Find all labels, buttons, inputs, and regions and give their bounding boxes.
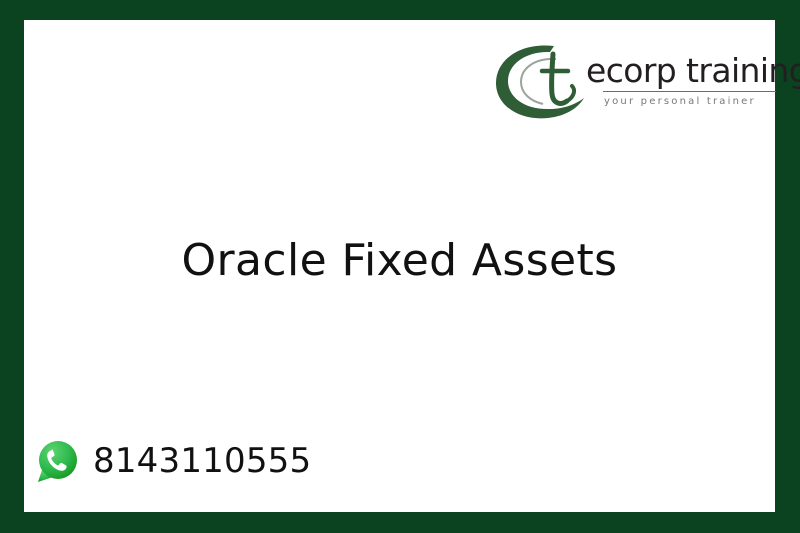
logo-wordmark: ecorp trainings bbox=[586, 52, 776, 90]
logo-tagline: your personal trainer bbox=[604, 95, 776, 108]
logo-divider-rule bbox=[603, 91, 776, 92]
slide-root: ecorp trainings your personal trainer Or… bbox=[0, 0, 800, 533]
whatsapp-icon[interactable] bbox=[33, 437, 81, 485]
page-title: Oracle Fixed Assets bbox=[24, 235, 775, 286]
logo-text-block: ecorp trainings your personal trainer bbox=[586, 52, 776, 108]
whatsapp-contact[interactable]: 8143110555 bbox=[33, 437, 311, 485]
phone-number[interactable]: 8143110555 bbox=[93, 441, 311, 481]
slide-canvas: ecorp trainings your personal trainer Or… bbox=[24, 20, 775, 512]
ecorp-trainings-logo: ecorp trainings your personal trainer bbox=[490, 40, 775, 132]
